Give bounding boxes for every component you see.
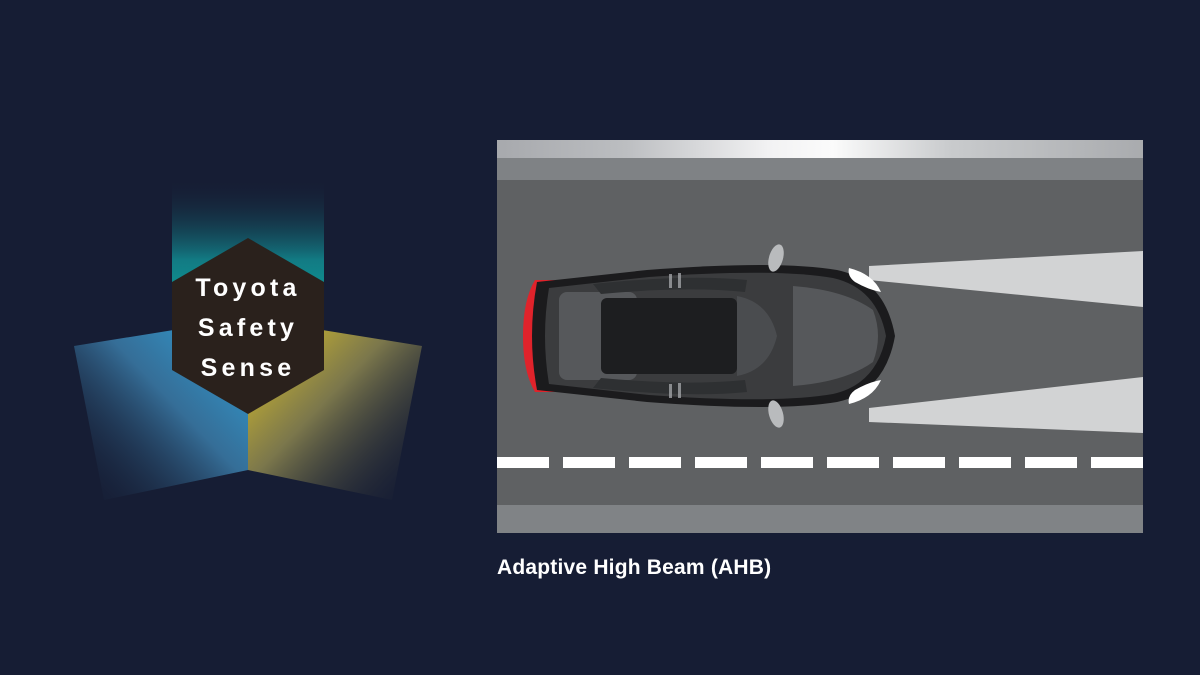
road-verge-bottom (497, 505, 1143, 533)
lane-dash (497, 457, 549, 468)
lane-dash (629, 457, 681, 468)
logo-graphic: Toyota Safety Sense (60, 170, 440, 510)
feature-caption: Adaptive High Beam (AHB) (497, 556, 771, 580)
road-shoulder-top (497, 140, 1143, 158)
lane-dash (761, 457, 813, 468)
lane-dash (959, 457, 1011, 468)
lane-dash (1091, 457, 1143, 468)
lane-dash (563, 457, 615, 468)
lane-dash (695, 457, 747, 468)
toyota-safety-sense-logo: Toyota Safety Sense (60, 170, 440, 510)
lane-dash (827, 457, 879, 468)
screenshot-root: Toyota Safety Sense (0, 0, 1200, 675)
ahb-scene-graphic (497, 140, 1143, 533)
logo-line-2: Safety (198, 314, 298, 342)
lane-dash (893, 457, 945, 468)
logo-line-3: Sense (201, 354, 296, 382)
ahb-illustration (497, 140, 1143, 533)
lane-dash (1025, 457, 1077, 468)
roof (601, 298, 737, 374)
road-verge-top (497, 158, 1143, 180)
logo-line-1: Toyota (195, 274, 300, 302)
